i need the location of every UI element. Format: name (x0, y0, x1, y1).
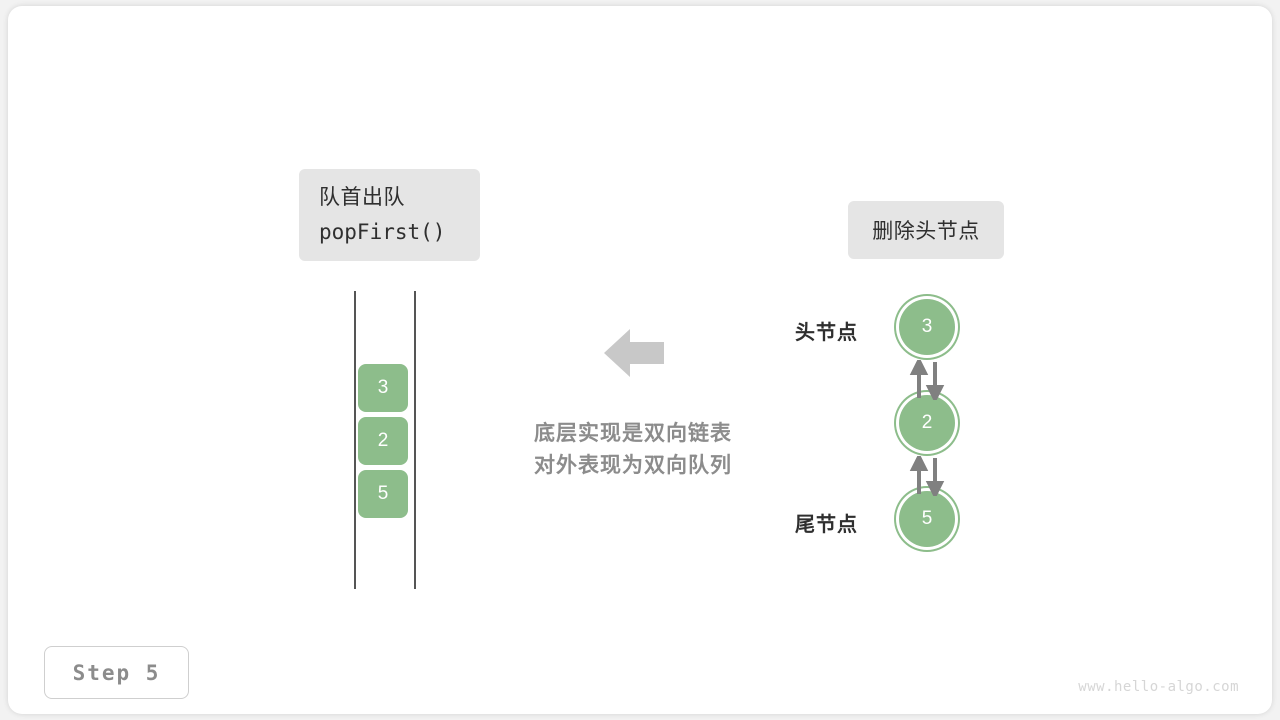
list-node: 3 (899, 299, 955, 355)
arrow-left-icon (604, 327, 664, 379)
list-node: 5 (899, 491, 955, 547)
deque-cell: 3 (358, 364, 408, 412)
step-badge-text: Step 5 (73, 661, 161, 685)
action-label-box: 删除头节点 (848, 201, 1004, 259)
diagram-canvas: 队首出队 popFirst() 删除头节点 3 2 5 底层实现是双向链表 对外… (0, 0, 1280, 720)
deque-cell: 2 (358, 417, 408, 465)
operation-label-box: 队首出队 popFirst() (299, 169, 480, 261)
action-label-text: 删除头节点 (872, 215, 980, 245)
operation-label-cn: 队首出队 (319, 181, 480, 215)
operation-label-code: popFirst() (319, 215, 480, 249)
bidirectional-link-arrows (908, 456, 948, 496)
bidirectional-link-arrows (908, 360, 948, 400)
step-badge: Step 5 (44, 646, 189, 699)
diagram-caption: 底层实现是双向链表 对外表现为双向队列 (503, 418, 763, 482)
tail-node-tag: 尾节点 (795, 508, 858, 537)
deque-cell: 5 (358, 470, 408, 518)
diagram-card: 队首出队 popFirst() 删除头节点 3 2 5 底层实现是双向链表 对外… (8, 6, 1272, 714)
watermark: www.hello-algo.com (1078, 679, 1239, 695)
caption-line-2: 对外表现为双向队列 (503, 450, 763, 482)
deque-rail-left (354, 291, 356, 589)
deque-rail-right (414, 291, 416, 589)
caption-line-1: 底层实现是双向链表 (503, 418, 763, 450)
list-node: 2 (899, 395, 955, 451)
head-node-tag: 头节点 (795, 316, 858, 345)
